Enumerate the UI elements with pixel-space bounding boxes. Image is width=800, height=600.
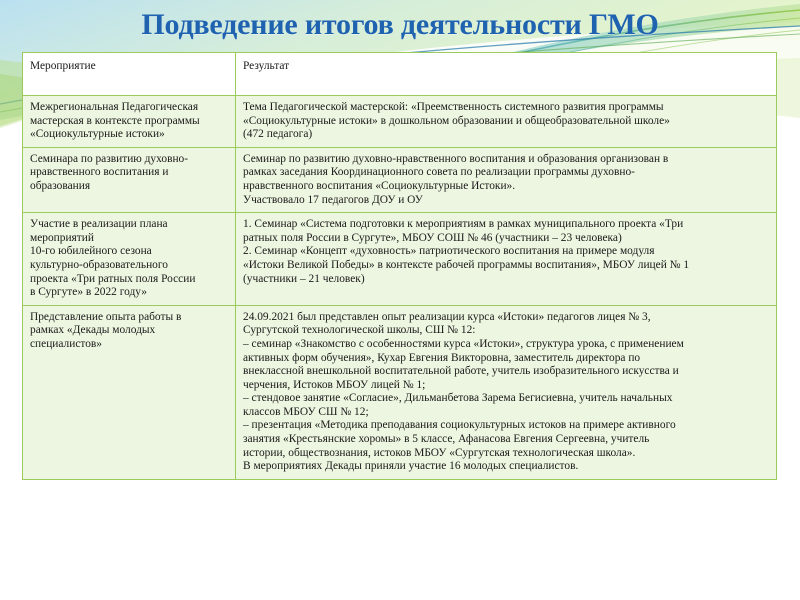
cell-line: мероприятий bbox=[30, 232, 229, 246]
column-header-event: Мероприятие bbox=[23, 53, 236, 96]
page-title: Подведение итогов деятельности ГМО bbox=[0, 8, 800, 42]
cell-line: рамках заседания Координационного совета… bbox=[243, 166, 770, 180]
table-cell-event: Семинара по развитию духовно-нравственно… bbox=[23, 147, 236, 212]
cell-line: проекта «Три ратных поля России bbox=[30, 273, 229, 287]
cell-line: (участники – 21 человек) bbox=[243, 273, 770, 287]
table-cell-result: 1. Семинар «Система подготовки к меропри… bbox=[236, 213, 777, 306]
cell-line: черчения, Истоков МБОУ лицей № 1; bbox=[243, 379, 770, 393]
cell-line: 2. Семинар «Концепт «духовность» патриот… bbox=[243, 245, 770, 259]
cell-line: Тема Педагогической мастерской: «Преемст… bbox=[243, 101, 770, 115]
cell-line: занятия «Крестьянские хоромы» в 5 классе… bbox=[243, 433, 770, 447]
cell-line: – стендовое занятие «Согласие», Дильманб… bbox=[243, 392, 770, 406]
cell-line: Участие в реализации плана bbox=[30, 218, 229, 232]
cell-line: «Социокультурные истоки» в дошкольном об… bbox=[243, 115, 770, 129]
results-table-container: Мероприятие Результат Межрегиональная Пе… bbox=[22, 52, 776, 480]
cell-line: истории, обществознания, истоков МБОУ «С… bbox=[243, 447, 770, 461]
cell-line: Межрегиональная Педагогическая bbox=[30, 101, 229, 115]
cell-line: Сургутской технологической школы, СШ № 1… bbox=[243, 324, 770, 338]
cell-line: «Истоки Великой Победы» в контексте рабо… bbox=[243, 259, 770, 273]
cell-line: Участвовало 17 педагогов ДОУ и ОУ bbox=[243, 194, 770, 208]
table-cell-result: Семинар по развитию духовно-нравственног… bbox=[236, 147, 777, 212]
table-cell-event: Представление опыта работы врамках «Дека… bbox=[23, 305, 236, 479]
slide-canvas: Подведение итогов деятельности ГМО Мероп… bbox=[0, 0, 800, 600]
cell-line: Семинар по развитию духовно-нравственног… bbox=[243, 153, 770, 167]
table-cell-result: Тема Педагогической мастерской: «Преемст… bbox=[236, 96, 777, 148]
cell-line: культурно-образовательного bbox=[30, 259, 229, 273]
cell-line: в Сургуте» в 2022 году» bbox=[30, 286, 229, 300]
cell-line: ратных поля России в Сургуте», МБОУ СОШ … bbox=[243, 232, 770, 246]
cell-line: нравственного воспитания и bbox=[30, 166, 229, 180]
cell-line: (472 педагога) bbox=[243, 128, 770, 142]
table-cell-result: 24.09.2021 был представлен опыт реализац… bbox=[236, 305, 777, 479]
table-row: Семинара по развитию духовно-нравственно… bbox=[23, 147, 777, 212]
table-row: Представление опыта работы врамках «Дека… bbox=[23, 305, 777, 479]
cell-line: 1. Семинар «Система подготовки к меропри… bbox=[243, 218, 770, 232]
table-row: Межрегиональная Педагогическаямастерская… bbox=[23, 96, 777, 148]
cell-line: мастерская в контексте программы bbox=[30, 115, 229, 129]
cell-line: – презентация «Методика преподавания соц… bbox=[243, 419, 770, 433]
cell-line: специалистов» bbox=[30, 338, 229, 352]
cell-line: 10-го юбилейного сезона bbox=[30, 245, 229, 259]
cell-line: рамках «Декады молодых bbox=[30, 324, 229, 338]
cell-line: нравственного воспитания «Социокультурны… bbox=[243, 180, 770, 194]
table-header: Мероприятие Результат bbox=[23, 53, 777, 96]
column-header-result: Результат bbox=[236, 53, 777, 96]
cell-line: Семинара по развитию духовно- bbox=[30, 153, 229, 167]
cell-line: Представление опыта работы в bbox=[30, 311, 229, 325]
cell-line: образования bbox=[30, 180, 229, 194]
cell-line: активных форм обучения», Кухар Евгения В… bbox=[243, 352, 770, 366]
table-body: Межрегиональная Педагогическаямастерская… bbox=[23, 96, 777, 480]
table-cell-event: Участие в реализации планамероприятий10-… bbox=[23, 213, 236, 306]
table-header-row: Мероприятие Результат bbox=[23, 53, 777, 96]
results-table: Мероприятие Результат Межрегиональная Пе… bbox=[22, 52, 777, 480]
cell-line: В мероприятиях Декады приняли участие 16… bbox=[243, 460, 770, 474]
cell-line: – семинар «Знакомство с особенностями ку… bbox=[243, 338, 770, 352]
table-cell-event: Межрегиональная Педагогическаямастерская… bbox=[23, 96, 236, 148]
cell-line: внеклассной внешкольной воспитательной р… bbox=[243, 365, 770, 379]
cell-line: 24.09.2021 был представлен опыт реализац… bbox=[243, 311, 770, 325]
table-row: Участие в реализации планамероприятий10-… bbox=[23, 213, 777, 306]
cell-line: «Социокультурные истоки» bbox=[30, 128, 229, 142]
cell-line: классов МБОУ СШ № 12; bbox=[243, 406, 770, 420]
